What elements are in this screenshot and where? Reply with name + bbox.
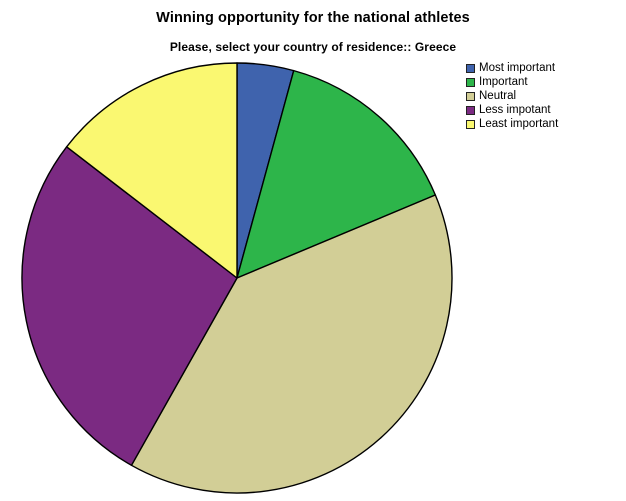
legend-item-label: Less impotant	[479, 104, 551, 117]
legend-item[interactable]: Least important	[466, 117, 616, 131]
legend-swatch-icon	[466, 106, 475, 115]
legend-item[interactable]: Neutral	[466, 89, 616, 103]
legend-item-label: Most important	[479, 62, 555, 75]
legend-item-label: Important	[479, 76, 528, 89]
legend-item[interactable]: Important	[466, 75, 616, 89]
legend-swatch-icon	[466, 120, 475, 129]
legend-item-label: Neutral	[479, 90, 516, 103]
legend-item[interactable]: Most important	[466, 61, 616, 75]
legend-item-label: Least important	[479, 118, 558, 131]
legend-swatch-icon	[466, 64, 475, 73]
legend-swatch-icon	[466, 78, 475, 87]
legend-item[interactable]: Less impotant	[466, 103, 616, 117]
chart-legend: Most importantImportantNeutralLess impot…	[466, 61, 616, 131]
legend-swatch-icon	[466, 92, 475, 101]
pie-chart-figure: Winning opportunity for the national ath…	[0, 0, 626, 501]
